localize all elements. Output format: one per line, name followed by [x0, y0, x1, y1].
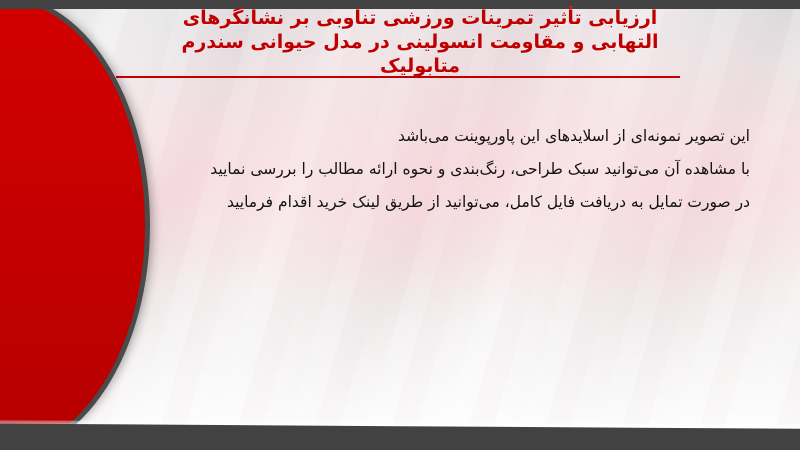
title-line-1: ارزیابی تأثیر تمرینات ورزشی تناوبی بر نش… [160, 6, 680, 30]
body-line-3: در صورت تمایل به دریافت فایل کامل، می‌تو… [130, 186, 750, 219]
slide-content: ارزیابی تأثیر تمرینات ورزشی تناوبی بر نش… [0, 0, 800, 450]
title-underline-divider [116, 76, 680, 78]
presentation-slide: ارزیابی تأثیر تمرینات ورزشی تناوبی بر نش… [0, 0, 800, 450]
slide-title: ارزیابی تأثیر تمرینات ورزشی تناوبی بر نش… [160, 6, 680, 78]
slide-body-text: این تصویر نمونه‌ای از اسلایدهای این پاور… [130, 120, 750, 219]
body-line-2: با مشاهده آن می‌توانید سبک طراحی، رنگ‌بن… [130, 153, 750, 186]
body-line-1: این تصویر نمونه‌ای از اسلایدهای این پاور… [130, 120, 750, 153]
title-line-2: التهابی و مقاومت انسولینی در مدل حیوانی … [160, 30, 680, 54]
title-line-3: متابولیک [160, 54, 680, 78]
